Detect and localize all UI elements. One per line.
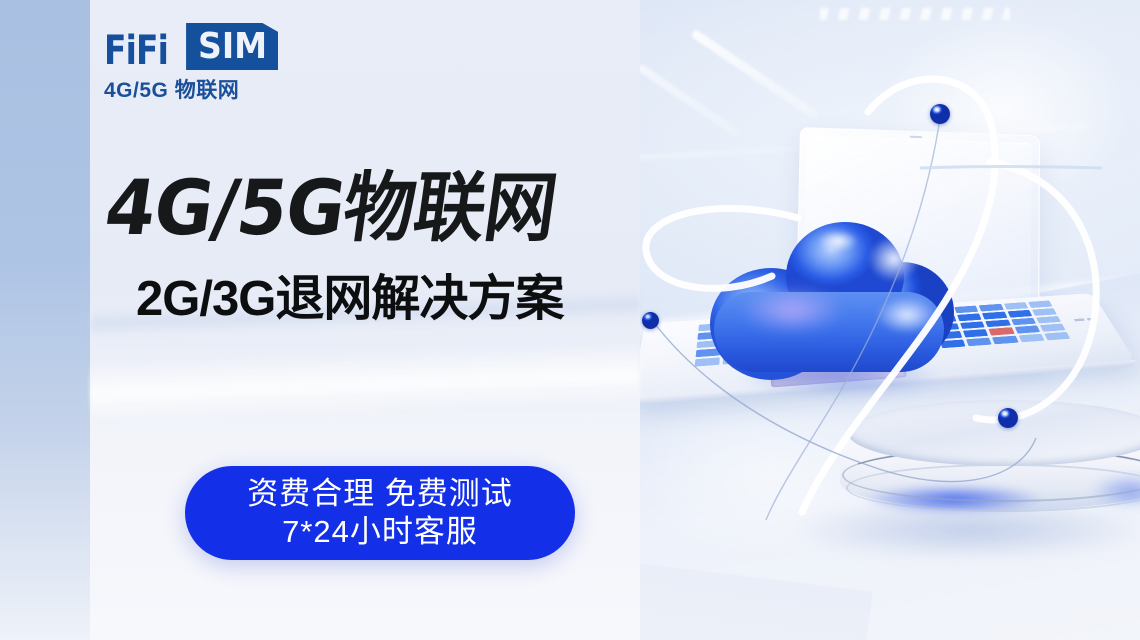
sphere-left bbox=[642, 312, 659, 329]
sphere-bottom-right bbox=[998, 408, 1018, 428]
sim-label: SIM bbox=[198, 26, 267, 67]
cta-line-2: 7*24小时客服 bbox=[282, 513, 478, 551]
sphere-top-right bbox=[930, 104, 950, 124]
cta-line-1: 资费合理 免费测试 bbox=[247, 475, 513, 513]
orbit-rings bbox=[640, 0, 1140, 640]
brand-wordmark: FiFi bbox=[104, 32, 168, 70]
left-color-band bbox=[0, 0, 90, 640]
brand-logo-mark: FiFi SIM bbox=[104, 22, 284, 70]
headline-subtitle: 2G/3G退网解决方案 bbox=[136, 270, 563, 328]
cta-pill[interactable]: 资费合理 免费测试 7*24小时客服 bbox=[185, 466, 575, 560]
brand-tagline: 4G/5G 物联网 bbox=[104, 74, 284, 104]
sim-card-icon: SIM bbox=[186, 23, 278, 70]
promo-banner: FiFi SIM 4G/5G 物联网 4G/5G物联网 2G/3G退网解决方案 … bbox=[0, 0, 1140, 640]
brand-logo[interactable]: FiFi SIM 4G/5G 物联网 bbox=[104, 22, 284, 104]
headline-title: 4G/5G物联网 bbox=[100, 166, 561, 250]
hero-illustration bbox=[640, 0, 1140, 640]
